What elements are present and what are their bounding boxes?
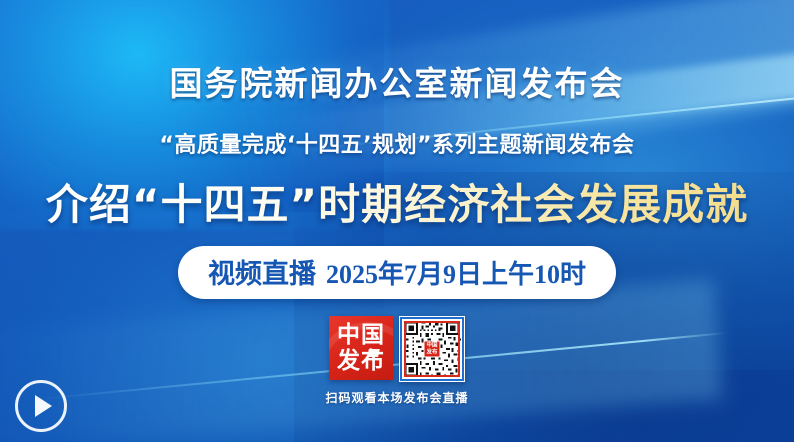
qr-caption: 扫码观看本场发布会直播 bbox=[325, 389, 468, 406]
brand-logo: 中国 发布 bbox=[329, 316, 393, 380]
brand-logo-line-1: 中国 bbox=[337, 323, 385, 348]
qr-row: 中国 发布 bbox=[329, 316, 465, 382]
live-stream-poster: 国务院新闻办公室新闻发布会 “高质量完成‘十四五’规划”系列主题新闻发布会 介绍… bbox=[0, 0, 794, 442]
qr-block: 中国 发布 bbox=[325, 316, 468, 406]
broadcast-type-label: 视频直播 bbox=[208, 252, 316, 291]
broadcast-datetime: 2025年7月9日上午10时 bbox=[326, 254, 586, 291]
qr-center-logo: 中国 发布 bbox=[423, 341, 440, 358]
page-title: 国务院新闻办公室新闻发布会 bbox=[170, 57, 625, 105]
play-icon bbox=[35, 395, 52, 417]
headline-topic: 介绍“十四五”时期经济社会发展成就 bbox=[46, 171, 748, 232]
broadcast-schedule-badge: 视频直播 2025年7月9日上午10时 bbox=[178, 246, 616, 299]
flag-accent-icon bbox=[367, 349, 380, 357]
qr-code-icon[interactable]: 中国 发布 bbox=[399, 316, 465, 382]
poster-content: 国务院新闻办公室新闻发布会 “高质量完成‘十四五’规划”系列主题新闻发布会 介绍… bbox=[0, 0, 794, 442]
qr-center-line-2: 发布 bbox=[426, 349, 437, 355]
play-button[interactable] bbox=[15, 380, 67, 432]
series-subtitle: “高质量完成‘十四五’规划”系列主题新闻发布会 bbox=[159, 127, 634, 159]
